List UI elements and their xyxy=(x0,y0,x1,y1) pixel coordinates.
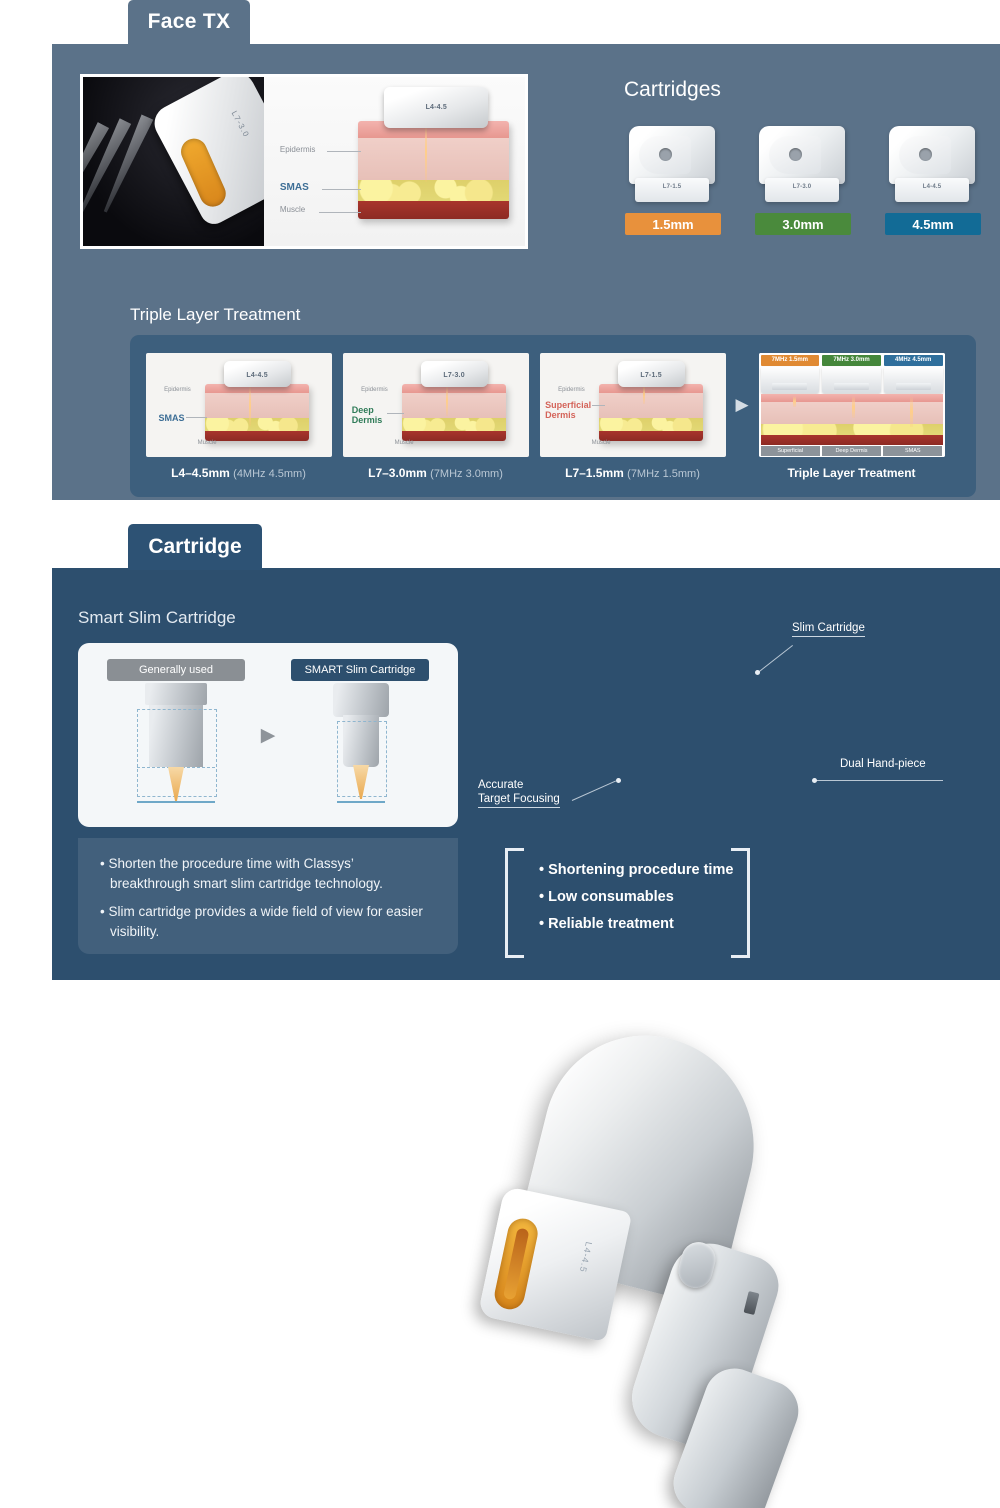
hero-blades-photo: L7-3.0 xyxy=(83,77,264,246)
combined-diagram: 7MHz 1.5mm 7MHz 3.0mm 4MHz 4.5mm xyxy=(759,353,945,457)
triple-panel-caption: L7–1.5mm (7MHz 1.5mm) xyxy=(565,466,700,480)
leader-target xyxy=(387,413,404,414)
callout-dot-slim xyxy=(755,670,760,675)
ultrasound-beam xyxy=(446,385,448,416)
cartridge-depth-badge: 3.0mm xyxy=(755,213,851,235)
combined-cartridge xyxy=(822,367,881,393)
bracket-right-icon xyxy=(731,848,750,958)
callout-dual-handpiece-label: Dual Hand-piece xyxy=(840,758,926,770)
label-target: Superficial Dermis xyxy=(545,400,591,420)
cartridge-item[interactable]: L7-1.5 1.5mm xyxy=(618,112,728,262)
skin-dermis-layer xyxy=(402,393,506,418)
skin-diagram: L4-4.5 Epidermis SMAS Muscle xyxy=(146,353,332,457)
handpiece-button xyxy=(675,1239,719,1292)
handpiece-dark-photo: L7-3.0 xyxy=(148,77,264,229)
handpiece-cartridge: L4-4.5 xyxy=(478,1186,633,1342)
cartridge-body xyxy=(889,126,975,184)
cartridges-title: Cartridges xyxy=(624,78,721,102)
benefit-item: Slim cartridge provides a wide field of … xyxy=(100,902,436,941)
label-target: Deep Dermis xyxy=(352,405,383,425)
ultrasound-beam xyxy=(643,385,645,404)
handpiece-code: L7-3.0 xyxy=(421,372,488,379)
cartridge-image: L4-4.5 xyxy=(883,112,983,207)
skin-muscle-layer xyxy=(599,431,703,441)
callout-slim-cartridge: Slim Cartridge xyxy=(792,622,865,634)
handpiece-code: L7-1.5 xyxy=(618,372,685,379)
triple-panel-image: L7-3.0 Epidermis Deep Dermis Muscle xyxy=(343,353,529,457)
handpiece-on-skin: L7-3.0 xyxy=(421,361,488,387)
label-muscle: Muscle xyxy=(395,440,414,446)
skin-muscle-layer xyxy=(358,201,509,219)
triple-caption-sub: (7MHz 3.0mm) xyxy=(430,468,503,480)
benefit-item: Shorten the procedure time with Classys’… xyxy=(100,854,436,893)
handpiece-neck xyxy=(622,1233,787,1457)
skin-diagram: L7-3.0 Epidermis Deep Dermis Muscle xyxy=(343,353,529,457)
cartridge-code: L4-4.5 xyxy=(578,1241,594,1274)
label-muscle: Muscle xyxy=(280,205,305,214)
combined-headers: 7MHz 1.5mm 7MHz 3.0mm 4MHz 4.5mm xyxy=(761,355,943,366)
cartridge-body xyxy=(629,126,715,184)
triple-caption-sub: (7MHz 1.5mm) xyxy=(627,468,700,480)
cartridge-image: L7-3.0 xyxy=(753,112,853,207)
triple-caption-main: L7–3.0mm xyxy=(368,466,427,480)
combined-header: 7MHz 3.0mm xyxy=(822,355,881,366)
callout-dot-accurate xyxy=(616,778,621,783)
triple-panel: L7-3.0 Epidermis Deep Dermis Muscle L7–3… xyxy=(337,353,534,480)
skin-fat-layer xyxy=(358,180,509,202)
cartridge-code: L7-1.5 xyxy=(635,184,709,190)
combined-header: 7MHz 1.5mm xyxy=(761,355,820,366)
skin-dermis-layer xyxy=(358,138,509,180)
hero-skin-cross-section: L4-4.5 Epidermis SMAS Muscle xyxy=(264,77,525,246)
handpiece-code: L4-4.5 xyxy=(224,372,291,379)
cartridge-base: L7-1.5 xyxy=(635,178,709,202)
skin-block xyxy=(402,384,506,441)
skin-dermis-layer xyxy=(599,393,703,418)
triple-combined-panel: 7MHz 1.5mm 7MHz 3.0mm 4MHz 4.5mm xyxy=(753,353,950,480)
face-tx-panel: Face TX L7-3.0 xyxy=(52,22,1000,500)
benefit-item: Low consumables xyxy=(539,889,750,905)
label-smas: SMAS xyxy=(280,182,309,193)
callout-accurate-target: Accurate Target Focusing xyxy=(478,778,574,807)
triple-layer-title: Triple Layer Treatment xyxy=(130,305,300,325)
combined-footers: Superficial Deep Dermis SMAS xyxy=(761,446,943,456)
combined-footer: SMAS xyxy=(883,446,942,456)
skin-dermis-layer xyxy=(205,393,309,418)
leader-smas xyxy=(322,189,361,190)
leader-epidermis xyxy=(327,151,361,152)
label-epidermis: Epidermis xyxy=(361,387,388,393)
tab-face-tx-label: Face TX xyxy=(148,10,231,34)
triple-layer-box: L4-4.5 Epidermis SMAS Muscle L4–4.5mm (4… xyxy=(130,335,976,497)
handpiece-code-label: L7-3.0 xyxy=(230,109,251,139)
combined-cartridge xyxy=(761,367,820,393)
handpiece-code: L4-4.5 xyxy=(384,104,488,111)
benefits-list-right: Shortening procedure time Low consumable… xyxy=(505,848,750,958)
callout-accurate-line2: Target Focusing xyxy=(478,793,560,808)
benefit-item: Shortening procedure time xyxy=(539,862,750,878)
tab-notch-right xyxy=(250,22,1000,44)
arrow-right-icon: ▶ xyxy=(731,395,753,415)
cartridge-body xyxy=(759,126,845,184)
bracket-left-icon xyxy=(505,848,524,958)
handpiece-grip xyxy=(665,1360,807,1508)
smart-slim-title: Smart Slim Cartridge xyxy=(78,608,236,628)
label-target: SMAS xyxy=(159,413,185,423)
handpiece-on-skin: L7-1.5 xyxy=(618,361,685,387)
skin-fat-layer xyxy=(761,424,943,435)
label-epidermis: Epidermis xyxy=(280,145,316,154)
combined-cartridges xyxy=(761,367,943,393)
cartridge-image: L7-1.5 xyxy=(623,112,723,207)
triple-panel-image: L7-1.5 Epidermis Superficial Dermis Musc… xyxy=(540,353,726,457)
face-tx-section: Face TX L7-3.0 xyxy=(0,0,1000,508)
cartridge-base: L7-3.0 xyxy=(765,178,839,202)
tab-notch-left xyxy=(52,22,128,44)
triple-panel: L7-1.5 Epidermis Superficial Dermis Musc… xyxy=(534,353,731,480)
leader-target xyxy=(186,417,206,418)
label-muscle: Muscle xyxy=(198,440,217,446)
handpiece-on-skin: L4-4.5 xyxy=(224,361,291,387)
focus-baseline-smart xyxy=(337,801,385,803)
skin-diagram: L7-1.5 Epidermis Superficial Dermis Musc… xyxy=(540,353,726,457)
benefits-list-left-items: Shorten the procedure time with Classys’… xyxy=(100,854,436,941)
triple-panel-caption: L7–3.0mm (7MHz 3.0mm) xyxy=(368,466,503,480)
skin-muscle-layer xyxy=(205,431,309,441)
combined-panel-image: 7MHz 1.5mm 7MHz 3.0mm 4MHz 4.5mm xyxy=(759,353,945,457)
smart-slim-tag: SMART Slim Cartridge xyxy=(291,659,429,681)
callout-accurate-line1: Accurate xyxy=(478,779,523,791)
skin-diagram: L4-4.5 Epidermis SMAS Muscle xyxy=(264,77,525,246)
skin-muscle-layer xyxy=(402,431,506,441)
cartridge-base: L4-4.5 xyxy=(895,178,969,202)
ultrasound-beam xyxy=(425,121,427,182)
callout-dot-dual xyxy=(812,778,817,783)
focus-baseline-generic xyxy=(137,801,215,803)
triple-caption-sub: (4MHz 4.5mm) xyxy=(233,468,306,480)
handpiece-slot xyxy=(744,1291,760,1315)
benefits-list-right-items: Shortening procedure time Low consumable… xyxy=(505,848,750,932)
skin-block xyxy=(205,384,309,441)
tab-face-tx[interactable]: Face TX xyxy=(128,0,250,44)
smart-slim-column: SMART Slim Cartridge xyxy=(285,655,435,815)
callout-dual-handpiece: Dual Hand-piece xyxy=(840,758,926,770)
cartridge-item[interactable]: L4-4.5 4.5mm xyxy=(878,112,988,262)
combined-footer: Deep Dermis xyxy=(822,446,881,456)
skin-muscle-layer xyxy=(761,435,943,444)
combined-footer: Superficial xyxy=(761,446,820,456)
cartridge-code: L4-4.5 xyxy=(895,184,969,190)
generally-used-column: Generally used xyxy=(101,655,251,815)
triple-panel-image: L4-4.5 Epidermis SMAS Muscle xyxy=(146,353,332,457)
triple-panel: L4-4.5 Epidermis SMAS Muscle L4–4.5mm (4… xyxy=(140,353,337,480)
combined-caption: Triple Layer Treatment xyxy=(787,466,915,480)
skin-block xyxy=(358,121,509,219)
comparison-card: Generally used ▶ SMART Slim Cartridge xyxy=(78,643,458,827)
triple-panel-caption: L4–4.5mm (4MHz 4.5mm) xyxy=(171,466,306,480)
callout-slim-cartridge-label: Slim Cartridge xyxy=(792,622,865,637)
handpiece-hero-photo: L4-4.5 xyxy=(460,1020,880,1508)
combined-skin xyxy=(761,394,943,445)
label-epidermis: Epidermis xyxy=(558,387,585,393)
tab-cartridge[interactable]: Cartridge xyxy=(128,524,262,570)
tab-cartridge-label: Cartridge xyxy=(148,535,241,559)
beam-smas xyxy=(910,396,913,428)
triple-caption-main: L4–4.5mm xyxy=(171,466,230,480)
handpiece-head xyxy=(511,1020,777,1308)
cartridge-depth-badge: 4.5mm xyxy=(885,213,981,235)
skin-fat-layer xyxy=(402,418,506,431)
probe-collar-generic xyxy=(145,683,207,705)
benefits-list-left: Shorten the procedure time with Classys’… xyxy=(78,838,458,954)
cartridge-window xyxy=(492,1216,540,1312)
label-muscle: Muscle xyxy=(592,440,611,446)
combined-header: 4MHz 4.5mm xyxy=(884,355,943,366)
comparison-arrow-icon: ▶ xyxy=(251,724,285,747)
skin-block xyxy=(599,384,703,441)
label-epidermis: Epidermis xyxy=(164,387,191,393)
leader-muscle xyxy=(319,212,361,213)
beam-deep-dermis xyxy=(852,396,855,418)
cartridge-code: L7-3.0 xyxy=(765,184,839,190)
combined-cartridge xyxy=(884,367,943,393)
generally-used-tag: Generally used xyxy=(107,659,245,681)
cartridges-row: L7-1.5 1.5mm L7-3.0 3.0mm L4 xyxy=(618,112,988,262)
callout-line-dual xyxy=(815,780,943,781)
skin-fat-layer xyxy=(205,418,309,431)
benefit-item: Reliable treatment xyxy=(539,916,750,932)
hero-image-pair: L7-3.0 L4-4.5 Epidermis xyxy=(80,74,528,249)
beam-superficial xyxy=(793,396,796,407)
cartridge-depth-badge: 1.5mm xyxy=(625,213,721,235)
skin-fat-layer xyxy=(599,418,703,431)
triple-caption-main: L7–1.5mm xyxy=(565,466,624,480)
cartridge-item[interactable]: L7-3.0 3.0mm xyxy=(748,112,858,262)
ultrasound-beam xyxy=(249,385,251,426)
leader-target xyxy=(592,405,605,406)
handpiece-on-skin: L4-4.5 xyxy=(384,87,488,128)
probe-collar-smart xyxy=(333,683,389,717)
